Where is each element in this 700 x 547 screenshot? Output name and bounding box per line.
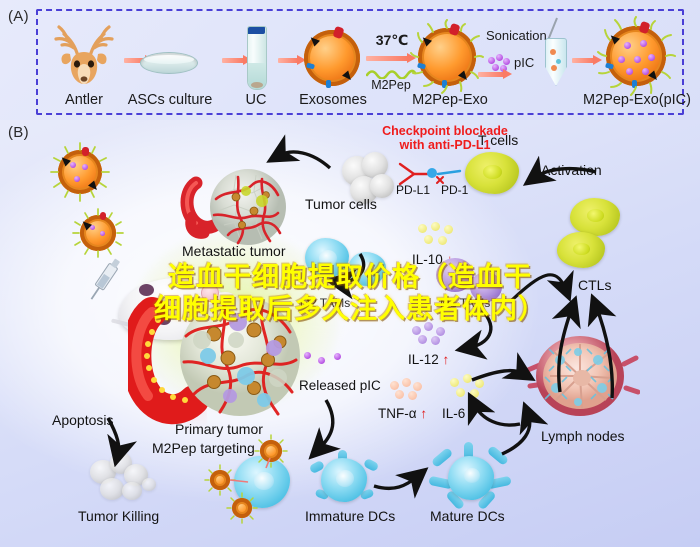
panel-a-tag: (A) <box>8 8 29 25</box>
exosome-pic-icon <box>606 26 666 86</box>
il-6-up-arrow: ↑ <box>469 406 476 421</box>
petri-dish-icon <box>140 52 198 74</box>
tnf-alpha-text: TNF-α <box>378 406 417 421</box>
mature-dc-icon <box>428 442 512 514</box>
il-12-up-arrow: ↑ <box>443 352 450 367</box>
m2pep-targeting-icon <box>200 440 310 524</box>
mature-dcs-label: Mature DCs <box>430 508 505 524</box>
il-6-text: IL-6 <box>442 406 465 421</box>
metastatic-tumor-icon <box>178 155 300 255</box>
tnf-alpha-label: TNF-α ↑ <box>378 406 427 421</box>
panel-a: (A) <box>0 0 700 120</box>
centrifuge-tube-icon <box>247 26 267 90</box>
panel-b-tag: (B) <box>8 124 29 141</box>
deer-icon <box>48 22 120 86</box>
step-label-uc: UC <box>230 92 282 108</box>
pd-1-label: PD-1 <box>441 183 468 197</box>
apoptotic-tumor-icon <box>88 450 160 508</box>
m1-tams-label: M1 TAMs <box>440 296 490 310</box>
step-label-ascs-culture: ASCs culture <box>124 92 216 108</box>
scientific-figure: (A) <box>0 0 700 547</box>
metastatic-tumor-label: Metastatic tumor <box>182 243 285 259</box>
immature-dcs-label: Immature DCs <box>305 508 395 524</box>
il-12-label: IL-12 ↑ <box>408 352 449 367</box>
t-cell-icon <box>465 152 519 194</box>
activation-label: Activation <box>541 162 602 178</box>
m1-tam-cell-icon <box>436 258 474 292</box>
il-12-cytokine-dots <box>412 322 452 346</box>
pd-l1-label: PD-L1 <box>396 183 430 197</box>
step-label-antler: Antler <box>48 92 120 108</box>
step-label-m2pep-exo-pic: M2Pep-Exo(pIC) <box>578 92 696 108</box>
step-label-m2pep-exo: M2Pep-Exo <box>404 92 496 108</box>
immature-dc-icon <box>310 450 380 512</box>
il-6-cytokine-dots <box>450 374 492 400</box>
exosome-peptide-icon <box>418 28 476 86</box>
ctl-cell-icon <box>557 232 605 268</box>
tumor-cells-label: Tumor cells <box>305 196 377 212</box>
primary-tumor-label: Primary tumor <box>175 421 263 437</box>
checkpoint-line-2: with anti-PD-L1 <box>400 138 491 152</box>
primary-tumor-icon <box>128 290 318 430</box>
m2-tam-cell-icon <box>305 238 349 278</box>
nanoparticle-icon <box>58 150 102 194</box>
arrow-m2pep-to-sonication <box>478 70 512 79</box>
syringe-icon <box>80 258 120 318</box>
t-cells-label: T cells <box>478 132 518 148</box>
pic-label: pIC <box>514 55 548 70</box>
tnf-alpha-cytokine-dots <box>390 378 430 402</box>
il-12-text: IL-12 <box>408 352 439 367</box>
lymph-nodes-label: Lymph nodes <box>541 428 625 444</box>
lymph-node-icon <box>520 330 640 426</box>
il-6-label: IL-6 ↑ <box>442 406 476 421</box>
exosome-icon <box>304 30 360 86</box>
ctl-cell-icon <box>570 198 620 236</box>
step-label-exosomes: Exosomes <box>296 92 370 108</box>
arrow-uc-to-exosomes <box>278 56 306 65</box>
nanoparticle-icon <box>80 215 116 251</box>
tnf-alpha-up-arrow: ↑ <box>420 406 427 421</box>
il-10-cytokine-dots <box>418 222 462 246</box>
ctls-label: CTLs <box>578 277 611 293</box>
m2-tam-cell-icon <box>348 252 386 286</box>
apoptosis-label: Apoptosis <box>52 412 113 428</box>
tumor-killing-label: Tumor Killing <box>78 508 159 524</box>
